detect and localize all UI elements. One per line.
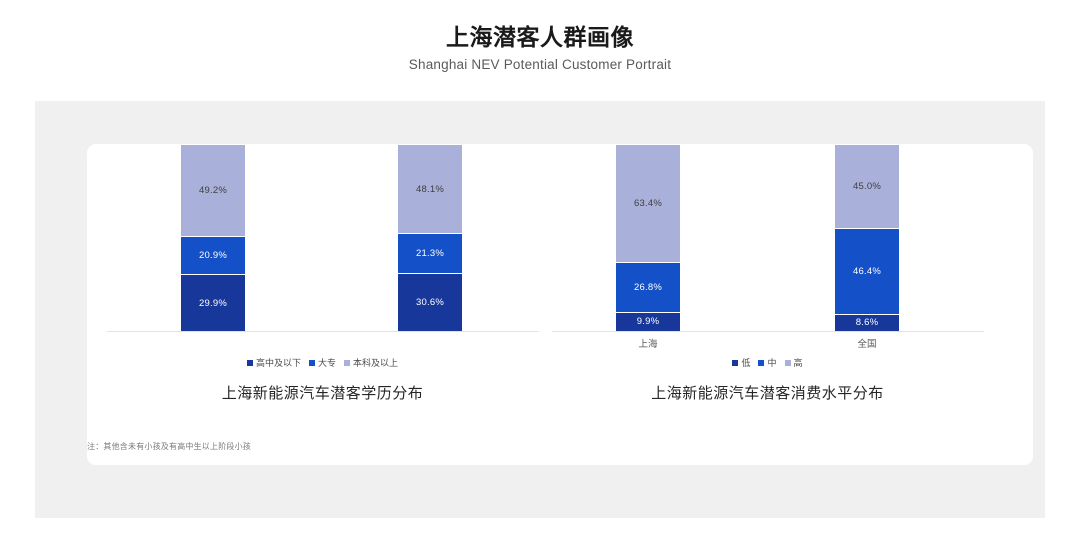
bar-education-0: 49.2%20.9%29.9% (181, 145, 245, 331)
legend-swatch-icon (344, 360, 350, 366)
page-subtitle: Shanghai NEV Potential Customer Portrait (0, 56, 1080, 74)
legend-label: 高 (794, 356, 803, 369)
plot-area-consumption: 63.4%26.8%9.9% 45.0%46.4%8.6% 上海 全国 (540, 144, 995, 332)
legend-item[interactable]: 中 (758, 356, 776, 369)
chart-caption-consumption: 上海新能源汽车潜客消费水平分布 (540, 382, 995, 403)
x-axis-line (107, 331, 539, 332)
legend-item[interactable]: 本科及以上 (344, 356, 398, 369)
x-label-consumption-1: 全国 (822, 336, 912, 350)
legend-swatch-icon (309, 360, 315, 366)
bar-segment: 30.6% (398, 274, 462, 331)
legend-item[interactable]: 大专 (309, 356, 336, 369)
legend-swatch-icon (758, 360, 764, 366)
bar-segment: 20.9% (181, 237, 245, 276)
legend-label: 本科及以上 (353, 356, 398, 369)
legend-swatch-icon (732, 360, 738, 366)
charts-row: 49.2%20.9%29.9% 48.1%21.3%30.6% 高中及以下大专本… (87, 144, 1033, 465)
bar-segment: 48.1% (398, 145, 462, 234)
legend-item[interactable]: 高 (785, 356, 803, 369)
legend-label: 大专 (318, 356, 336, 369)
legend-education: 高中及以下大专本科及以上 (95, 356, 550, 369)
legend-label: 中 (767, 356, 776, 369)
content-panel: 49.2%20.9%29.9% 48.1%21.3%30.6% 高中及以下大专本… (35, 101, 1045, 518)
page-title: 上海潜客人群画像 (0, 22, 1080, 52)
legend-swatch-icon (785, 360, 791, 366)
bar-segment: 49.2% (181, 145, 245, 237)
legend-swatch-icon (247, 360, 253, 366)
charts-card: 49.2%20.9%29.9% 48.1%21.3%30.6% 高中及以下大专本… (87, 144, 1033, 465)
bar-segment: 8.6% (835, 315, 899, 331)
x-axis-line (552, 331, 984, 332)
bar-segment: 63.4% (616, 145, 680, 263)
bar-segment: 21.3% (398, 234, 462, 274)
legend-label: 低 (741, 356, 750, 369)
footnote: 注：其他含未有小孩及有高中生以上阶段小孩 (87, 441, 587, 452)
bar-segment: 29.9% (181, 275, 245, 331)
legend-item[interactable]: 高中及以下 (247, 356, 301, 369)
page-header: 上海潜客人群画像 Shanghai NEV Potential Customer… (0, 22, 1080, 74)
chart-education-distribution: 49.2%20.9%29.9% 48.1%21.3%30.6% 高中及以下大专本… (95, 144, 550, 419)
plot-area-education: 49.2%20.9%29.9% 48.1%21.3%30.6% (95, 144, 550, 332)
chart-consumption-distribution: 63.4%26.8%9.9% 45.0%46.4%8.6% 上海 全国 低中高 … (540, 144, 995, 419)
bar-consumption-shanghai: 63.4%26.8%9.9% (616, 145, 680, 331)
x-label-consumption-0: 上海 (603, 336, 693, 350)
legend-label: 高中及以下 (256, 356, 301, 369)
bar-segment: 46.4% (835, 229, 899, 315)
legend-item[interactable]: 低 (732, 356, 750, 369)
bar-segment: 26.8% (616, 263, 680, 313)
bar-education-1: 48.1%21.3%30.6% (398, 145, 462, 331)
bar-segment: 9.9% (616, 313, 680, 331)
bar-segment: 45.0% (835, 145, 899, 229)
chart-caption-education: 上海新能源汽车潜客学历分布 (95, 382, 550, 403)
legend-consumption: 低中高 (540, 356, 995, 369)
bar-consumption-national: 45.0%46.4%8.6% (835, 145, 899, 331)
